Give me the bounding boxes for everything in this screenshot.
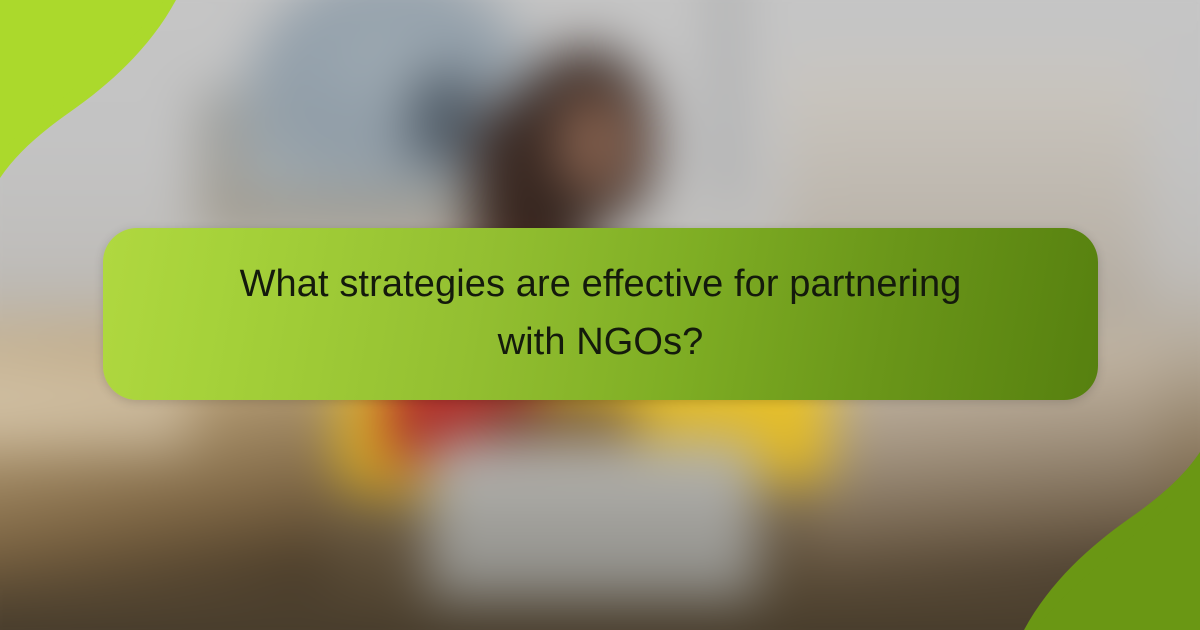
question-card: What strategies are effective for partne… [0,0,1200,630]
question-banner: What strategies are effective for partne… [103,228,1098,400]
background-person-a-face [552,90,640,200]
background-pole [715,0,737,200]
question-text: What strategies are effective for partne… [161,256,1040,372]
background-trousers [428,440,758,600]
background-dome-window [410,70,480,165]
